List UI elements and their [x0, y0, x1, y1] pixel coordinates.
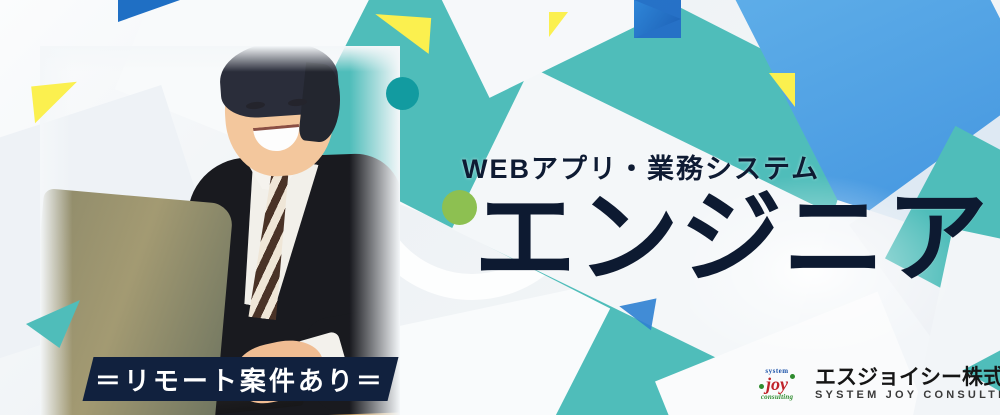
system-joy-logo-icon: system joy consulting — [748, 362, 806, 406]
company-name-english: SYSTEM JOY CONSULTING — [815, 389, 1000, 402]
remote-work-badge-label: ＝リモート案件あり＝ — [95, 361, 385, 398]
company-logo: system joy consulting エスジョイシー株式会社 SYSTEM… — [748, 360, 994, 408]
recruitment-banner: WEBアプリ・業務システム エンジニア ＝リモート案件あり＝ system jo… — [0, 0, 1000, 415]
company-name-japanese: エスジョイシー株式会社 — [815, 366, 1000, 390]
logo-mark-joy-text: joy — [766, 375, 788, 393]
yellow-triangle-blue-band — [769, 73, 795, 107]
yellow-triangle-top-center — [373, 14, 431, 54]
logo-mark-consulting-text: consulting — [761, 393, 793, 401]
green-dot — [442, 190, 477, 225]
remote-work-badge: ＝リモート案件あり＝ — [83, 357, 399, 401]
yellow-triangle-teal-band — [549, 12, 568, 37]
banner-headline: エンジニア — [474, 186, 989, 290]
blue-triangle-top-left — [118, 0, 180, 22]
teal-dot — [386, 77, 419, 110]
yellow-triangle-left — [31, 82, 81, 124]
company-name-block: エスジョイシー株式会社 SYSTEM JOY CONSULTING — [815, 366, 1000, 403]
